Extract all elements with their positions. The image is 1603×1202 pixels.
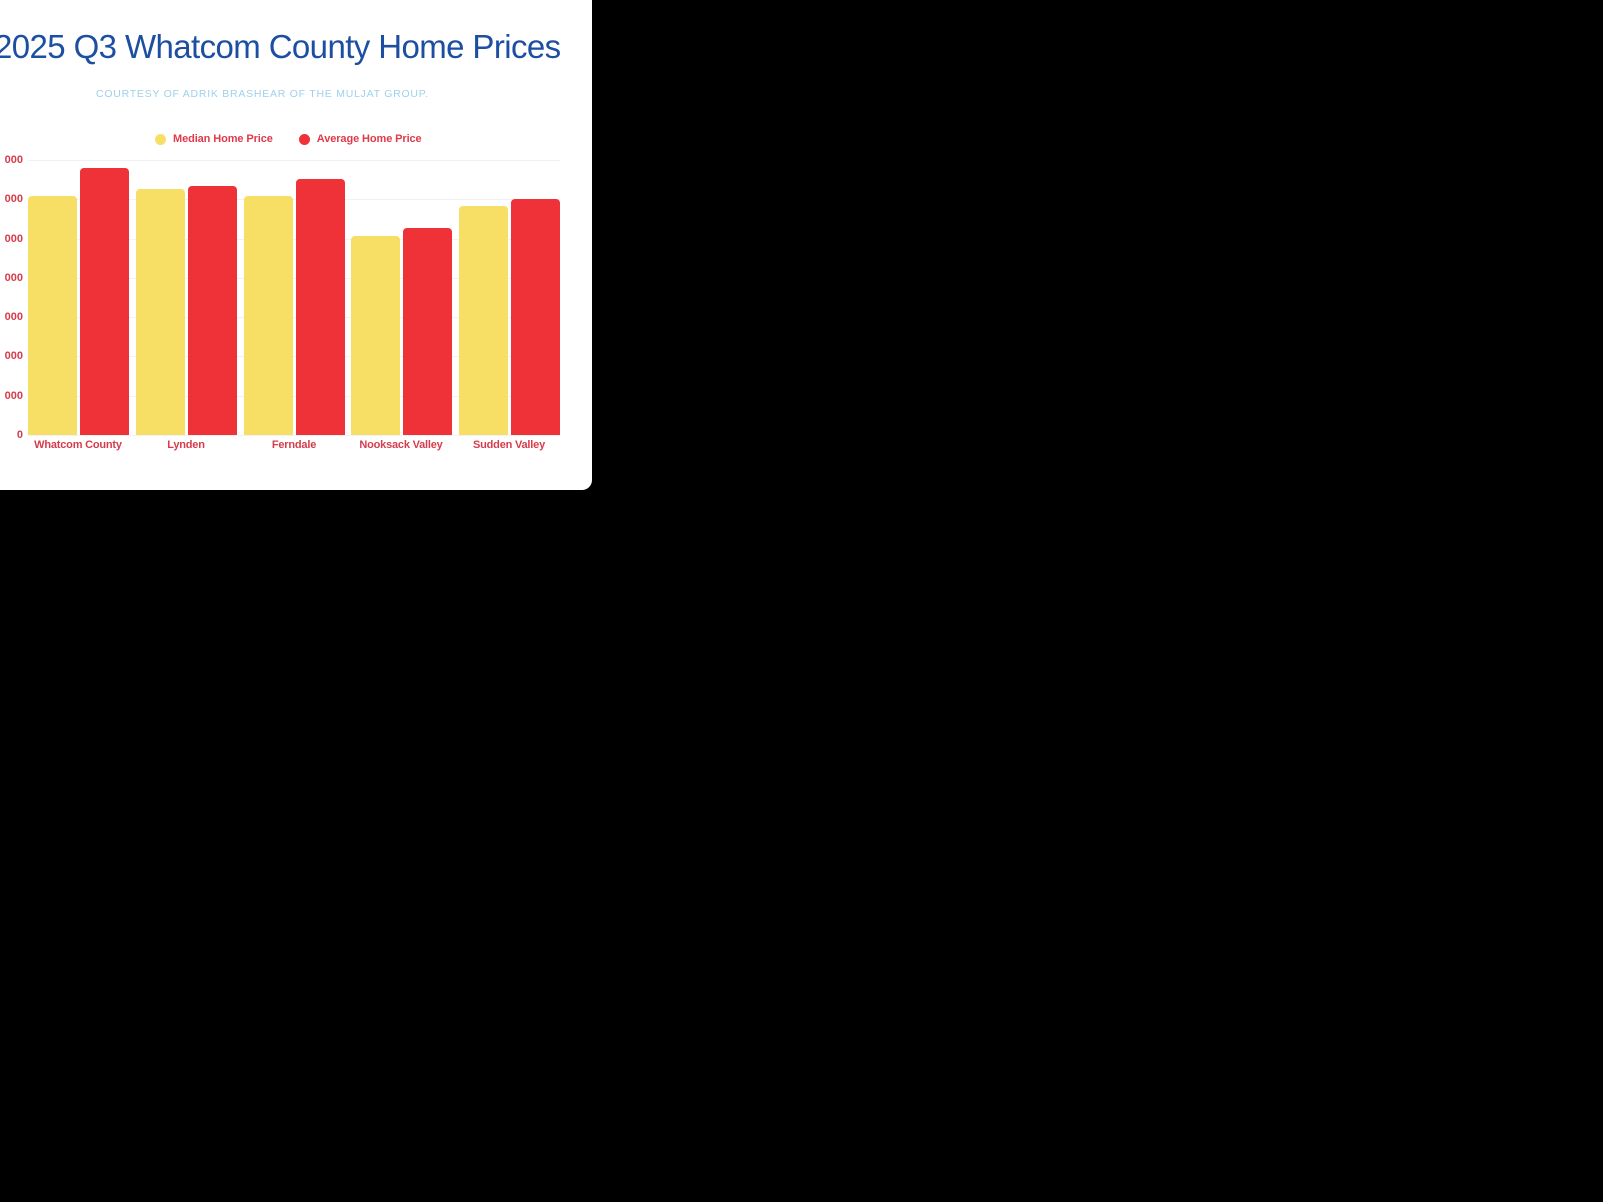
legend-item-label: Median Home Price: [173, 133, 273, 145]
y-axis-tick-label: 000: [5, 193, 23, 205]
bar-median[interactable]: [459, 206, 508, 435]
y-axis-tick-label: 000: [5, 390, 23, 402]
y-axis-tick-label: 000: [5, 350, 23, 362]
bar-average[interactable]: [296, 179, 345, 435]
bar-group: Lynden: [136, 160, 237, 435]
bar-group: Ferndale: [244, 160, 345, 435]
page-title: 2025 Q3 Whatcom County Home Prices: [0, 28, 592, 66]
bar-median[interactable]: [244, 196, 293, 435]
y-axis-tick-label: 000: [5, 233, 23, 245]
circle-marker-icon: [155, 134, 166, 145]
legend-item-median[interactable]: Median Home Price: [155, 133, 273, 145]
page-root: 2025 Q3 Whatcom County Home Prices COURT…: [0, 0, 1603, 1202]
bar-median[interactable]: [351, 236, 400, 435]
infographic-card: 2025 Q3 Whatcom County Home Prices COURT…: [0, 0, 592, 490]
legend-item-label: Average Home Price: [317, 133, 422, 145]
bar-average[interactable]: [80, 168, 129, 435]
bar-group: Nooksack Valley: [351, 160, 452, 435]
chart-legend: Median Home Price Average Home Price: [155, 133, 422, 145]
chart-subtitle: COURTESY OF ADRIK BRASHEAR OF THE MULJAT…: [96, 88, 429, 100]
y-axis-tick-label: 000: [5, 154, 23, 166]
bar-median[interactable]: [28, 196, 77, 435]
bar-group: Sudden Valley: [459, 160, 560, 435]
y-axis-tick-label: 000: [5, 311, 23, 323]
bar-average[interactable]: [188, 186, 237, 435]
chart-plot-area: 0000000000000000000000Whatcom CountyLynd…: [28, 160, 560, 435]
circle-marker-icon: [299, 134, 310, 145]
bar-average[interactable]: [403, 228, 452, 435]
bar-median[interactable]: [136, 189, 185, 435]
y-axis-tick-label: 000: [5, 272, 23, 284]
bar-group: Whatcom County: [28, 160, 129, 435]
bar-average[interactable]: [511, 199, 560, 435]
x-axis-tick-label: Sudden Valley: [429, 439, 589, 451]
legend-item-average[interactable]: Average Home Price: [299, 133, 422, 145]
y-gridline: [28, 435, 560, 436]
